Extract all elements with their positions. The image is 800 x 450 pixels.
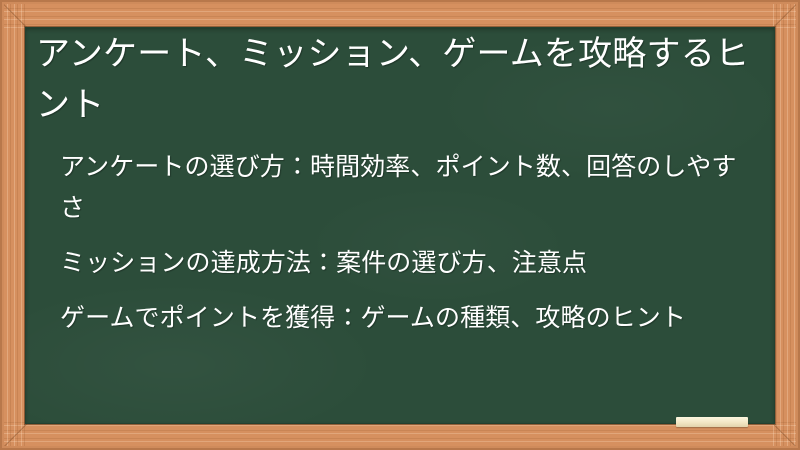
- list-item: ミッションの達成方法：案件の選び方、注意点: [60, 242, 760, 283]
- chalkboard-surface: アンケート、ミッション、ゲームを攻略するヒント アンケートの選び方：時間効率、ポ…: [25, 27, 775, 424]
- frame-grain-left: [0, 0, 27, 450]
- slide-content: アンケート、ミッション、ゲームを攻略するヒント アンケートの選び方：時間効率、ポ…: [25, 27, 775, 424]
- chalk-stick: [676, 417, 748, 427]
- blackboard-slide: アンケート、ミッション、ゲームを攻略するヒント アンケートの選び方：時間効率、ポ…: [0, 0, 800, 450]
- frame-grain-top: [0, 0, 800, 28]
- list-item: アンケートの選び方：時間効率、ポイント数、回答のしやすさ: [60, 146, 760, 228]
- frame-grain-right: [773, 0, 800, 450]
- list-item: ゲームでポイントを獲得：ゲームの種類、攻略のヒント: [60, 297, 760, 338]
- slide-title: アンケート、ミッション、ゲームを攻略するヒント: [36, 29, 760, 131]
- bullet-list: アンケートの選び方：時間効率、ポイント数、回答のしやすさ ミッションの達成方法：…: [60, 146, 760, 338]
